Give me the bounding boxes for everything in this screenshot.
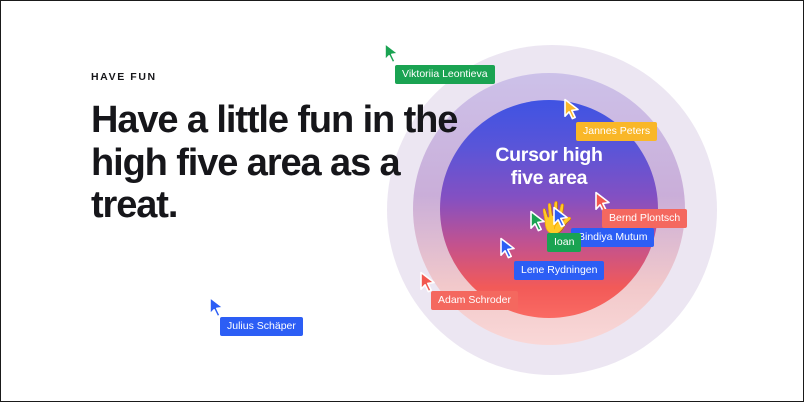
page-title: Have a little fun in the high five area … [91, 99, 491, 227]
cursor-name-badge-ioan[interactable]: Ioan [547, 233, 581, 252]
headline-line-2: high five area as a treat. [91, 142, 491, 227]
cursor-pointer-icon-jannes [563, 98, 581, 120]
headline-line-1: Have a little fun in the [91, 99, 491, 142]
cursor-pointer-icon-lene [499, 237, 517, 259]
cursor-name-badge-adam[interactable]: Adam Schroder [431, 291, 518, 310]
cursor-name-badge-julius[interactable]: Julius Schäper [220, 317, 303, 336]
cursor-name-badge-bernd[interactable]: Bernd Plontsch [602, 209, 687, 228]
cursor-name-badge-lene[interactable]: Lene Rydningen [514, 261, 604, 280]
cursor-pointer-icon-adam [419, 271, 437, 293]
cursor-pointer-icon-bindiya [552, 206, 570, 228]
cursor-pointer-icon-ioan [529, 210, 547, 232]
cursor-pointer-icon-julius [208, 296, 226, 318]
cursor-name-badge-viktoriia[interactable]: Viktoriia Leontieva [395, 65, 495, 84]
presentation-canvas: HAVE FUN Have a little fun in the high f… [0, 0, 804, 402]
cursor-name-badge-bindiya[interactable]: Bindiya Mutum [571, 228, 654, 247]
cursor-pointer-icon-viktoriia [383, 42, 401, 64]
hero-text-block: HAVE FUN Have a little fun in the high f… [91, 71, 491, 227]
cursor-name-badge-jannes[interactable]: Jannes Peters [576, 122, 657, 141]
